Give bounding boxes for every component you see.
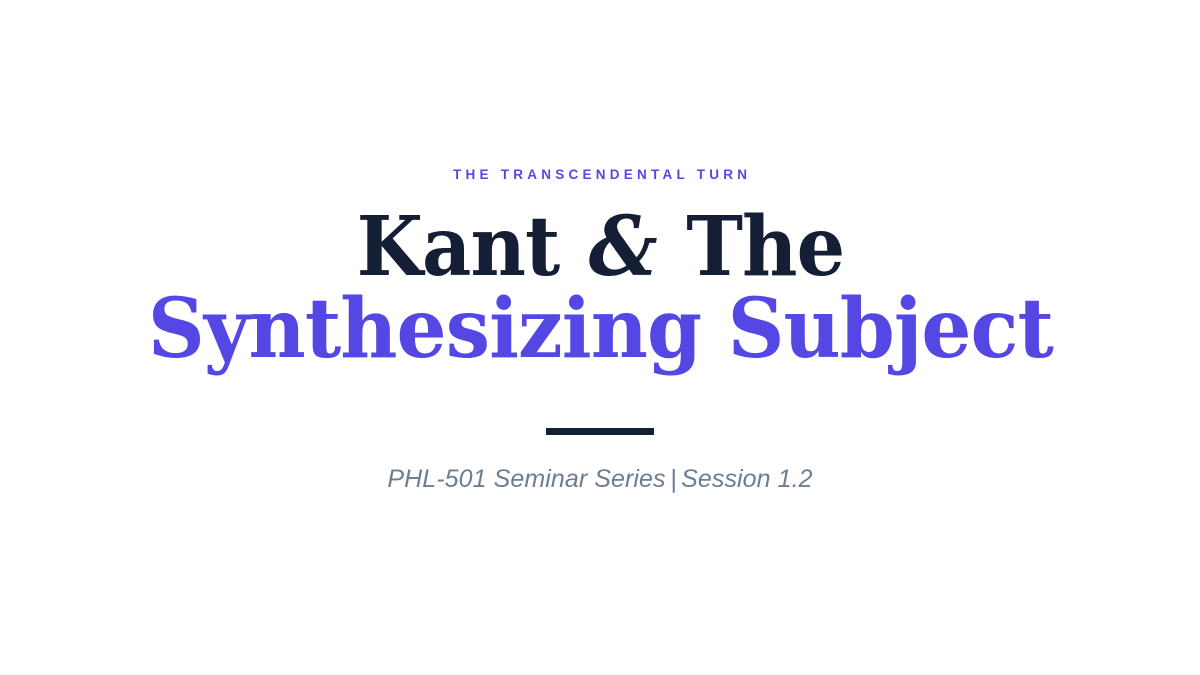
slide-subtitle: PHL-501 Seminar Series|Session 1.2 bbox=[387, 464, 812, 494]
slide-eyebrow: THE TRANSCENDENTAL TURN bbox=[449, 168, 752, 182]
subtitle-course-series: PHL-501 Seminar Series bbox=[387, 465, 665, 493]
page-title-line-2: Synthesizing Subject bbox=[147, 290, 1052, 369]
page-title-line-1-after-ampersand: The bbox=[660, 199, 844, 295]
subtitle-session: Session 1.2 bbox=[681, 465, 812, 493]
divider-rule bbox=[546, 428, 654, 435]
ampersand-glyph: & bbox=[585, 199, 661, 295]
subtitle-separator: | bbox=[666, 465, 682, 493]
title-slide: THE TRANSCENDENTAL TURN Kant & The Synth… bbox=[0, 0, 1200, 675]
page-title: Kant & The Synthesizing Subject bbox=[129, 208, 1072, 369]
page-title-line-1: Kant & The bbox=[162, 208, 1039, 287]
page-title-line-1-before-ampersand: Kant bbox=[356, 199, 584, 295]
